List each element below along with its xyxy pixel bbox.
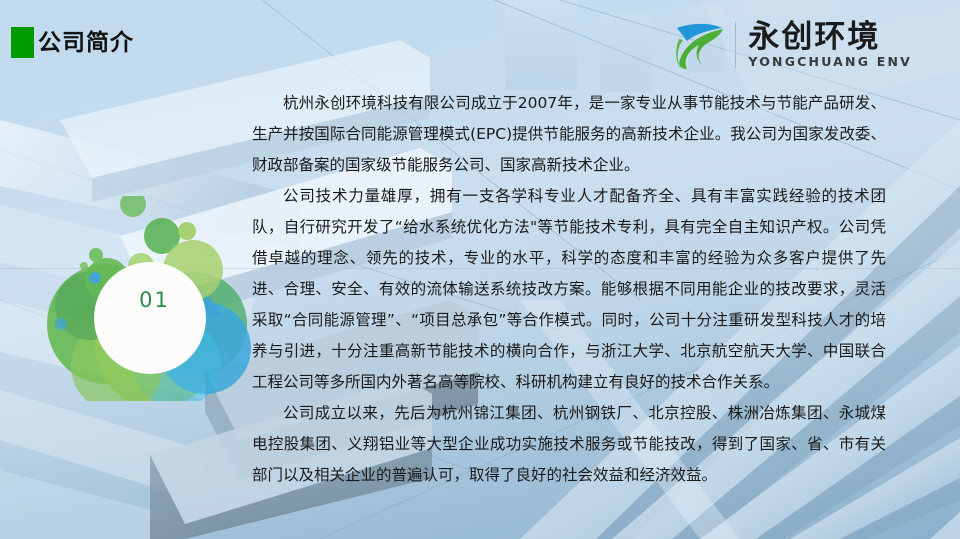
- paragraph-1: 杭州永创环境科技有限公司成立于2007年，是一家专业从事节能技术与节能产品研发、…: [252, 88, 886, 181]
- company-logo: 永创环境 YONGCHUANG ENV: [669, 18, 912, 72]
- logo-wordmark: 永创环境 YONGCHUANG ENV: [748, 21, 912, 69]
- section-number-badge: 01: [45, 196, 260, 401]
- logo-name-cn: 永创环境: [748, 21, 912, 54]
- leaf-swoosh-icon: [669, 19, 725, 71]
- paragraph-3: 公司成立以来，先后为杭州锦江集团、杭州钢铁厂、北京控股、株洲冶炼集团、永城煤电控…: [252, 398, 886, 491]
- title-accent-mark: [11, 27, 34, 58]
- page-title: 公司简介: [38, 28, 134, 58]
- paragraph-2: 公司技术力量雄厚，拥有一支各学科专业人才配备齐全、具有丰富实践经验的技术团队，自…: [252, 181, 886, 398]
- logo-name-en: YONGCHUANG ENV: [748, 55, 912, 69]
- slide-header: 公司简介 永创环境 YONGCHUANG ENV: [0, 0, 960, 86]
- body-content: 杭州永创环境科技有限公司成立于2007年，是一家专业从事节能技术与节能产品研发、…: [252, 88, 886, 491]
- leaf-swoosh-svg: [669, 19, 725, 71]
- section-number: 01: [45, 196, 260, 401]
- presentation-slide: 公司简介 永创环境 YONGCHUANG ENV: [0, 0, 960, 539]
- logo-divider: [735, 22, 736, 68]
